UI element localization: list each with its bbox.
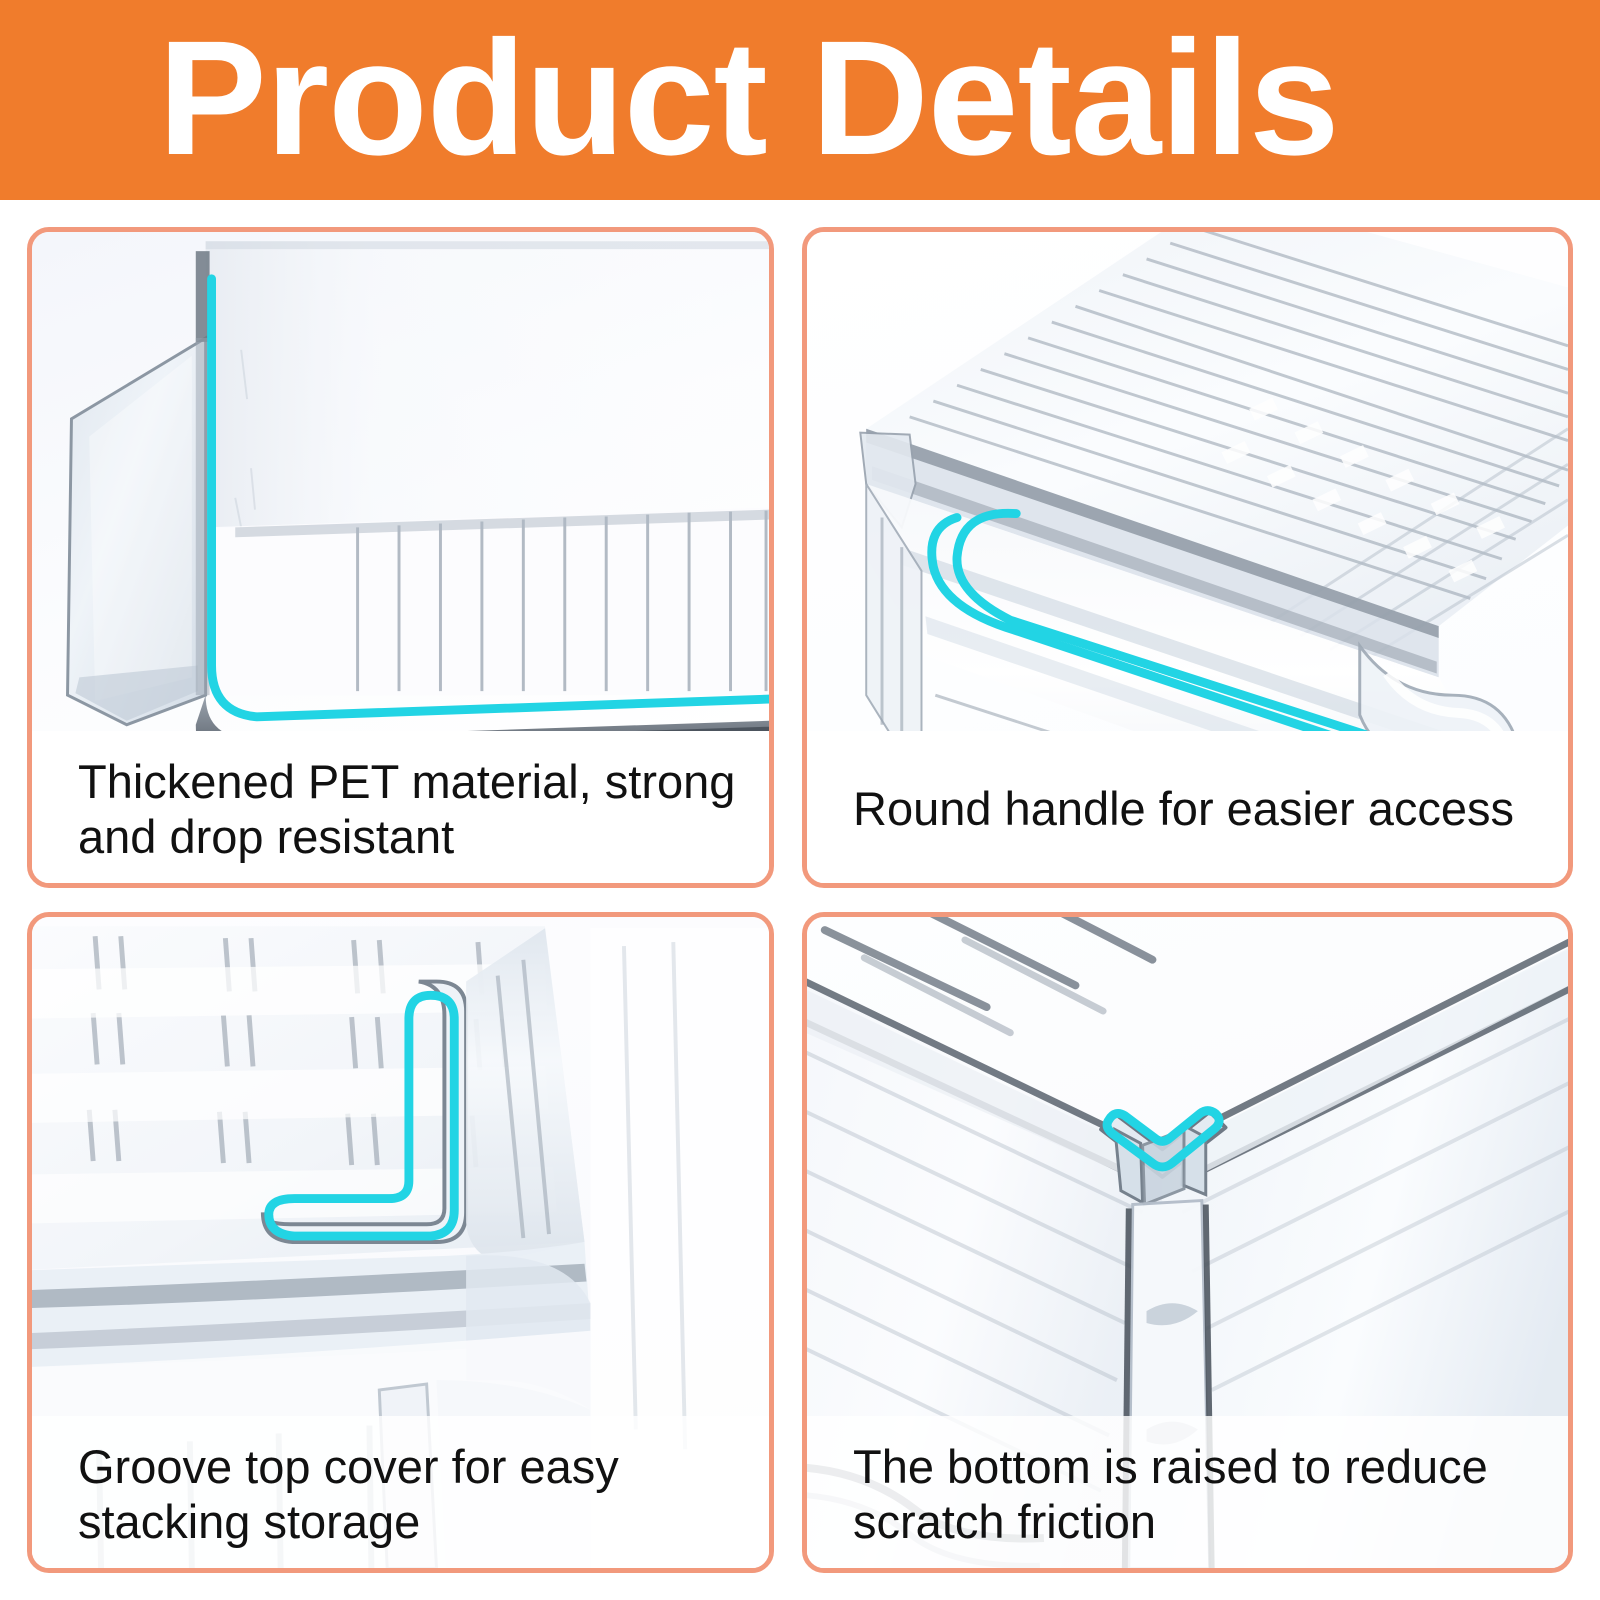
- panel-handle: Round handle for easier access: [802, 227, 1573, 888]
- panel-groove-caption: Groove top cover for easy stacking stora…: [32, 1420, 769, 1568]
- page-title: Product Details: [158, 16, 1339, 179]
- panel-material-caption: Thickened PET material, strong and drop …: [32, 735, 769, 883]
- panel-material: Thickened PET material, strong and drop …: [27, 227, 774, 888]
- panel-grid: Thickened PET material, strong and drop …: [27, 227, 1573, 1573]
- header-banner: Product Details: [0, 0, 1600, 200]
- panel-bottom-caption: The bottom is raised to reduce scratch f…: [807, 1420, 1568, 1568]
- panel-handle-caption: Round handle for easier access: [807, 735, 1568, 883]
- panel-bottom: The bottom is raised to reduce scratch f…: [802, 912, 1573, 1573]
- product-details-infographic: Product Details: [0, 0, 1600, 1600]
- panel-groove: Groove top cover for easy stacking stora…: [27, 912, 774, 1573]
